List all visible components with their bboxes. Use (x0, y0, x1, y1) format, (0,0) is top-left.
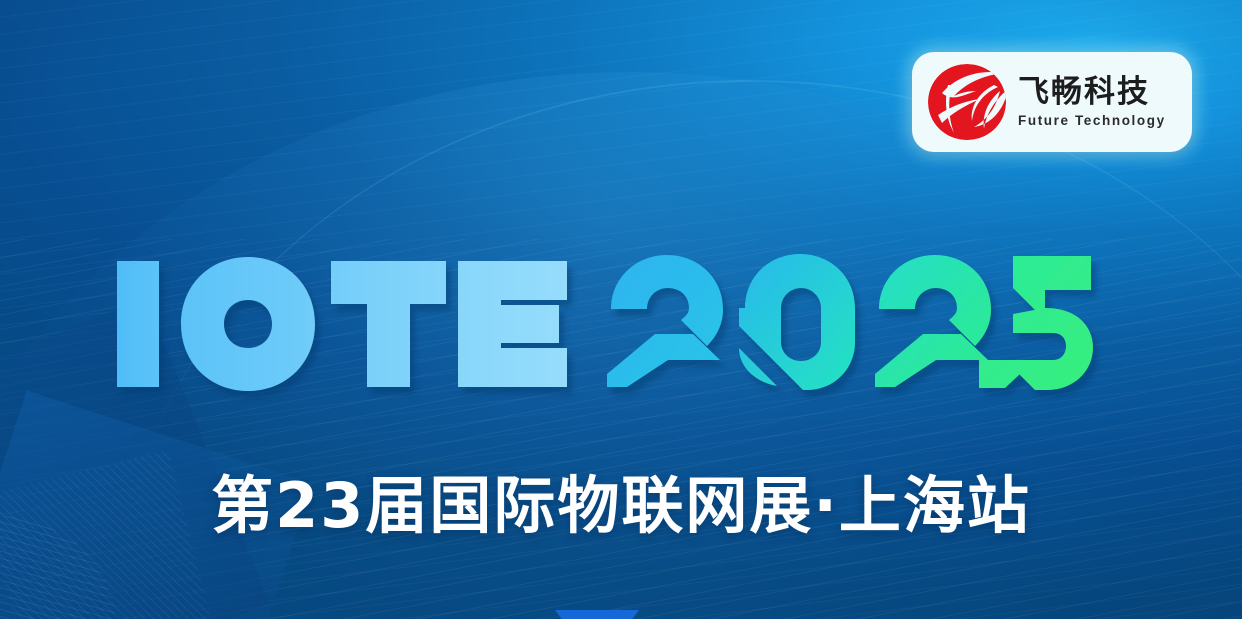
letter-I (117, 261, 159, 387)
bottom-accent-tab (555, 610, 639, 619)
iote-2025-banner: 飞畅科技 Future Technology (0, 0, 1242, 619)
digit-0 (739, 254, 855, 390)
company-name-en: Future Technology (1018, 113, 1166, 128)
company-name-cn: 飞畅科技 (1018, 76, 1166, 109)
fc-swirl-logo-mark (926, 63, 1008, 141)
letter-E (458, 261, 567, 387)
digit-2-first (607, 255, 723, 387)
company-logo-text: 飞畅科技 Future Technology (1018, 76, 1166, 129)
digit-5 (979, 256, 1093, 390)
letter-O (181, 257, 315, 391)
digit-2-second (875, 255, 991, 387)
event-subtitle: 第23届国际物联网展·上海站 (0, 455, 1242, 545)
company-logo-badge[interactable]: 飞畅科技 Future Technology (912, 52, 1192, 152)
letter-T (331, 261, 446, 387)
iote-2025-wordmark (115, 252, 1095, 397)
